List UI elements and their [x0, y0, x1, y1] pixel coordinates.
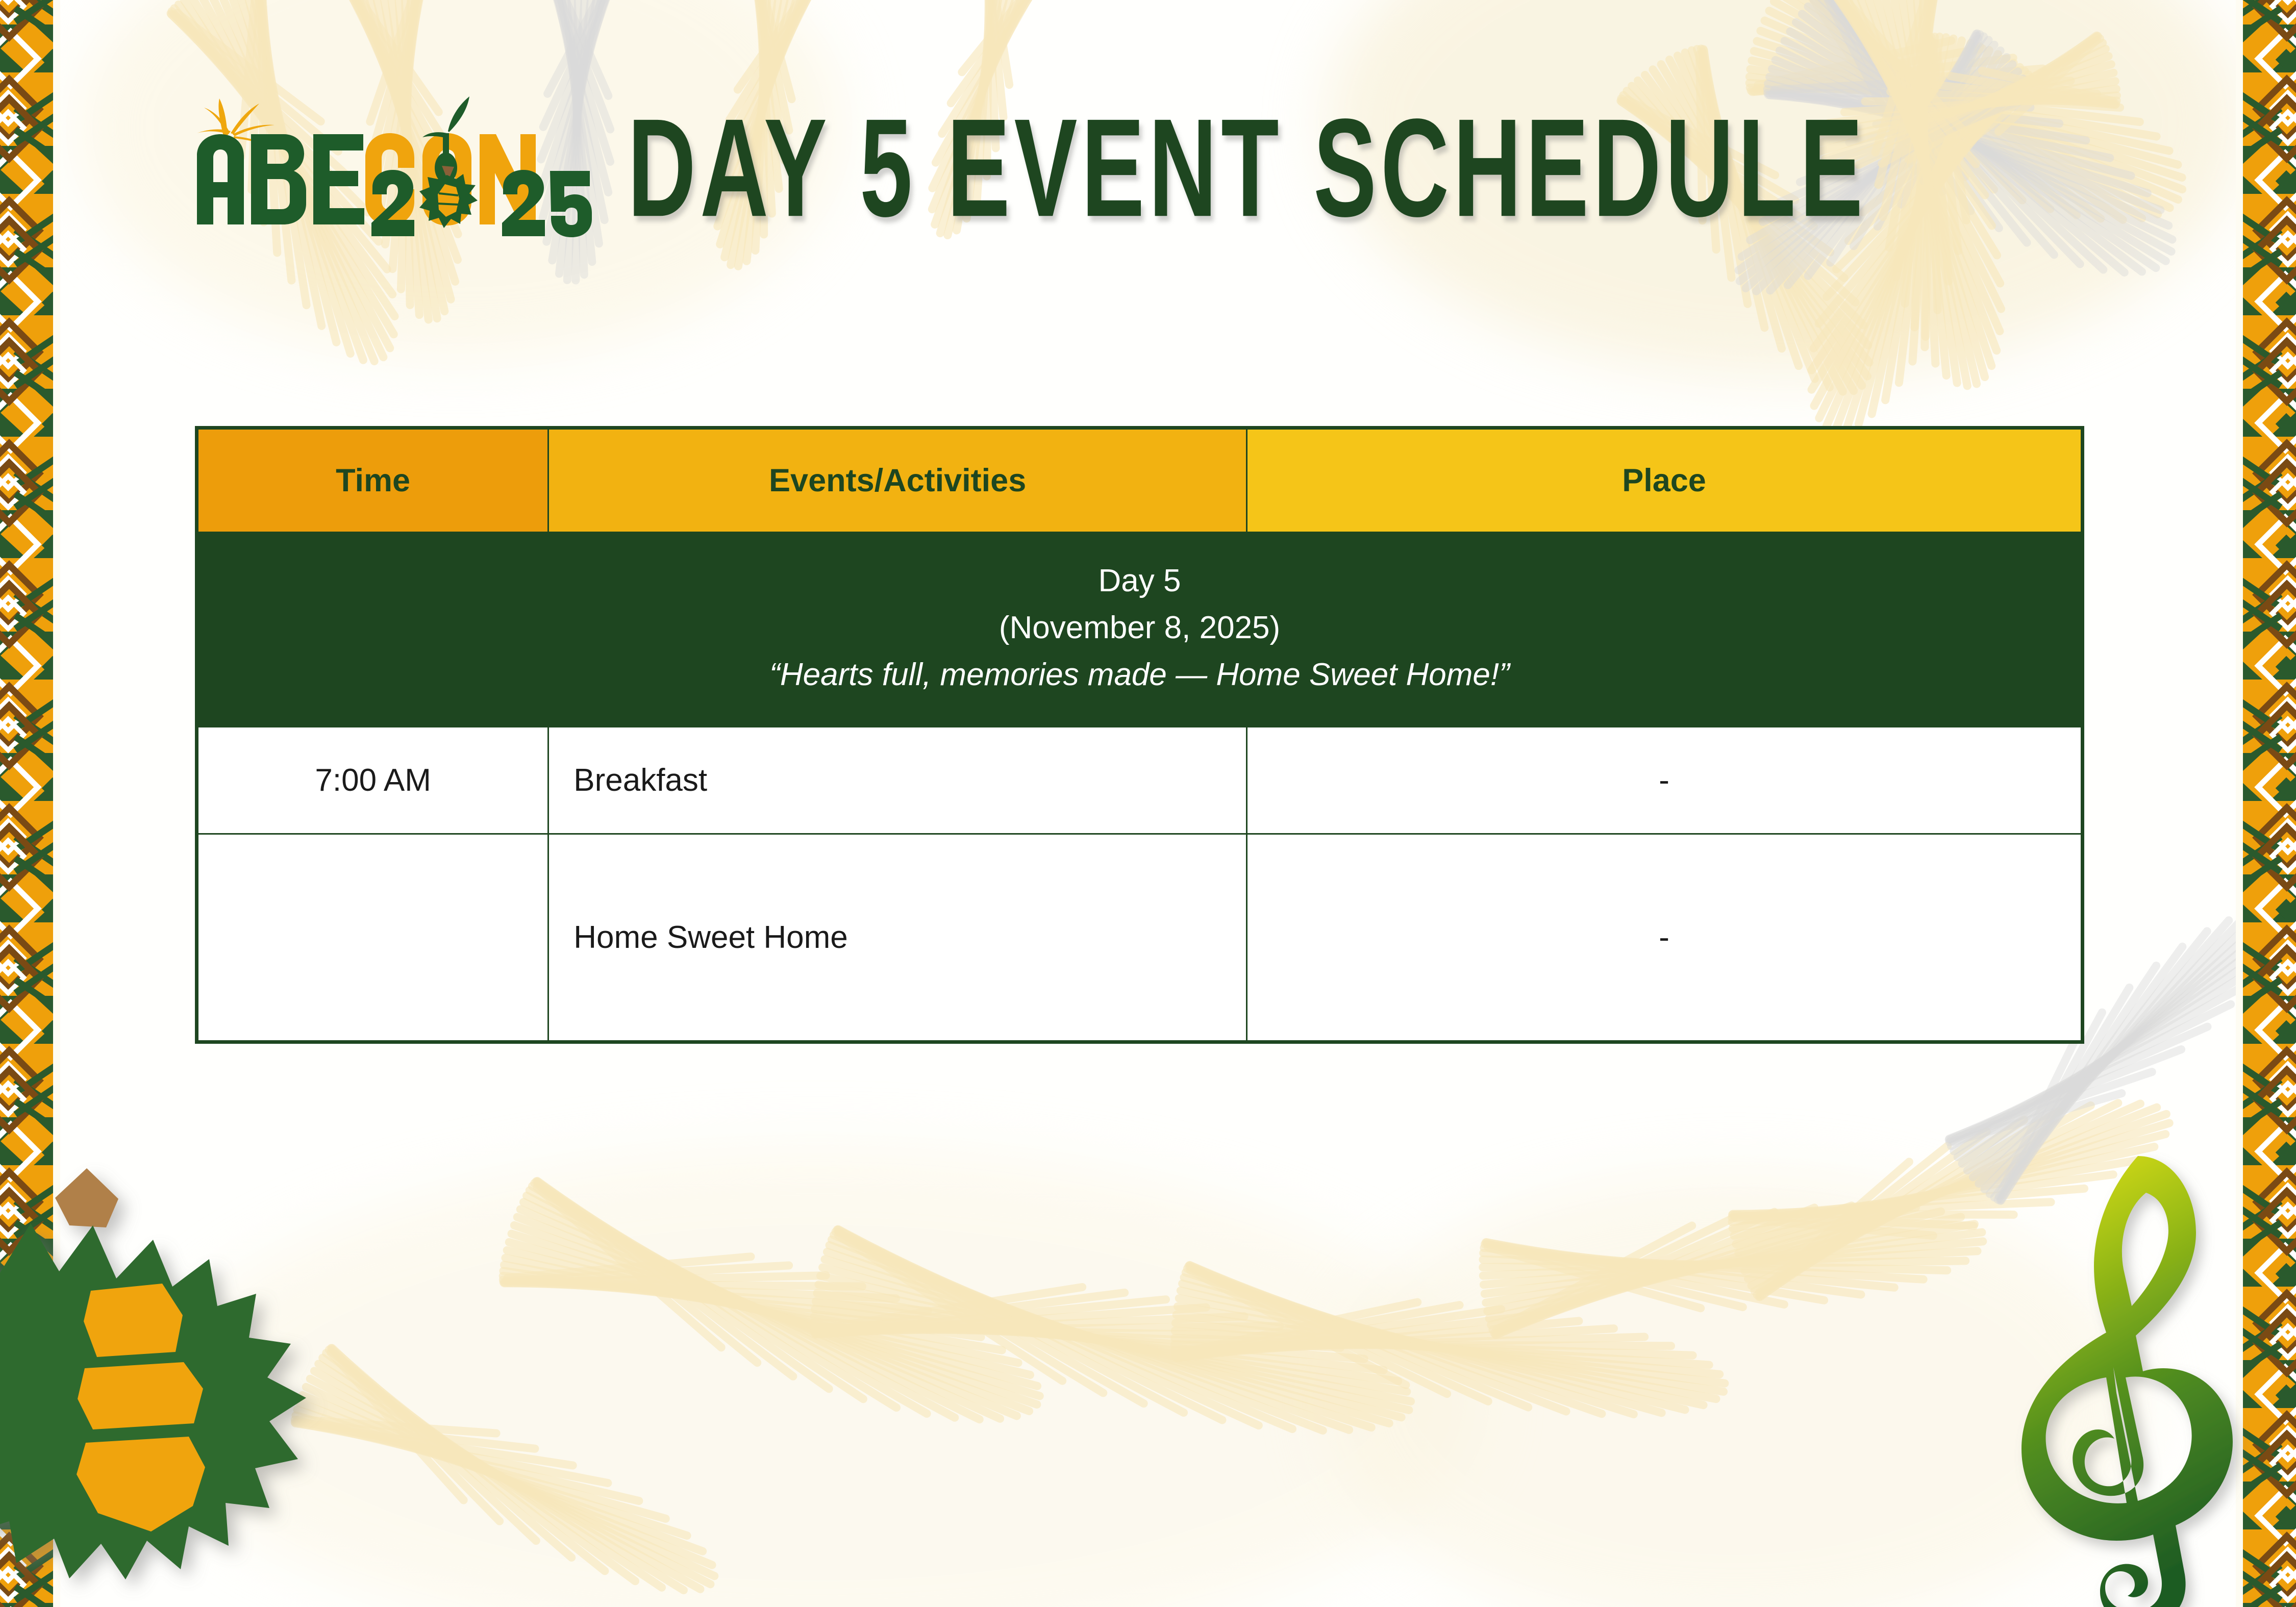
- durian-body: [0, 1168, 306, 1579]
- durian-flesh-2: [78, 1362, 203, 1429]
- table-row: 7:00 AM Breakfast -: [197, 727, 2083, 834]
- cell-event: Home Sweet Home: [548, 834, 1247, 1042]
- column-header-events: Events/Activities: [548, 428, 1247, 533]
- table-body: Day 5 (November 8, 2025) “Hearts full, m…: [197, 533, 2083, 1042]
- table-header-row: Time Events/Activities Place: [197, 428, 2083, 533]
- logo-text-abe: [197, 134, 364, 224]
- column-header-place: Place: [1247, 428, 2083, 533]
- column-header-time: Time: [197, 428, 548, 533]
- cell-place: -: [1247, 727, 2083, 834]
- cell-time: [197, 834, 548, 1042]
- page-title: DAY 5 EVENT SCHEDULE: [628, 105, 2107, 247]
- table-row: Home Sweet Home -: [197, 834, 2083, 1042]
- day-banner-row: Day 5 (November 8, 2025) “Hearts full, m…: [197, 533, 2083, 727]
- cell-place: -: [1247, 834, 2083, 1042]
- day-banner-quote: “Hearts full, memories made — Home Sweet…: [198, 651, 2081, 698]
- table-head: Time Events/Activities Place: [197, 428, 2083, 533]
- day-banner-cell: Day 5 (November 8, 2025) “Hearts full, m…: [197, 533, 2083, 727]
- cell-time: 7:00 AM: [197, 727, 548, 834]
- cell-event: Breakfast: [548, 727, 1247, 834]
- day-banner-date: (November 8, 2025): [198, 605, 2081, 651]
- treble-clef-illustration: [1985, 1138, 2250, 1607]
- clef-glyph: [2022, 1156, 2233, 1607]
- page-title-text: DAY 5 EVENT SCHEDULE: [628, 93, 1811, 244]
- schedule-table: Time Events/Activities Place Day 5 (Nove…: [195, 426, 2084, 1044]
- durian-stem: [55, 1168, 118, 1227]
- page-header: DAY 5 EVENT SCHEDULE: [0, 0, 2296, 316]
- durian-fruit-illustration: [0, 1138, 367, 1607]
- abecon-logo: [184, 89, 592, 242]
- durian-flesh-1: [84, 1284, 183, 1357]
- day-banner-day: Day 5: [198, 558, 2081, 605]
